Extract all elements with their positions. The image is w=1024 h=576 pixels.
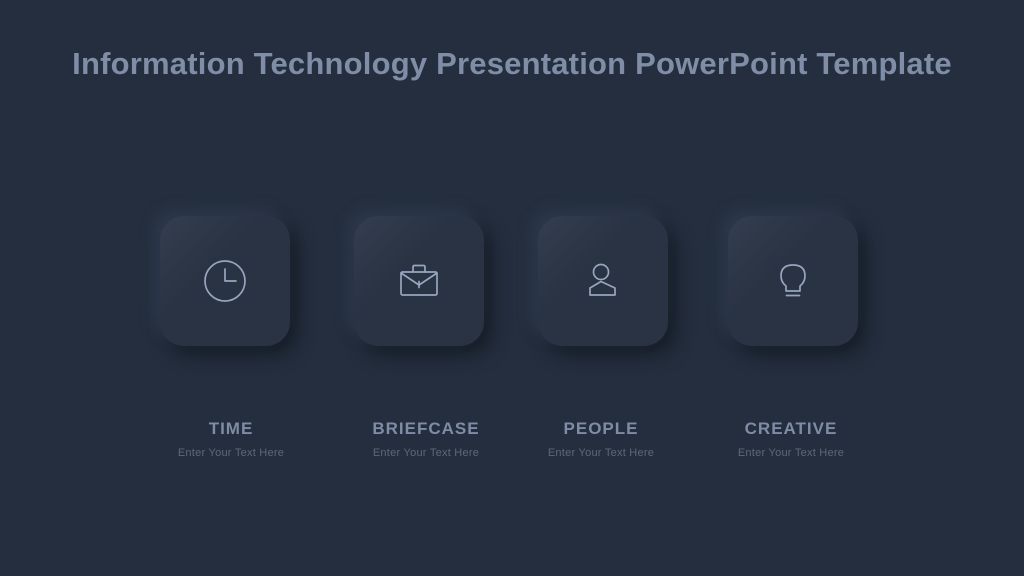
icon-card-time[interactable] [160,216,290,346]
card-sublabel-creative: Enter Your Text Here [691,446,891,460]
person-icon [577,255,629,307]
label-block-people: PEOPLE Enter Your Text Here [501,418,701,460]
label-block-briefcase: BRIEFCASE Enter Your Text Here [326,418,526,460]
clock-icon [199,255,251,307]
card-sublabel-time: Enter Your Text Here [131,446,331,460]
card-label-people: PEOPLE [501,418,701,440]
icon-cards-row [0,216,1024,366]
icon-card-people[interactable] [538,216,668,346]
card-label-creative: CREATIVE [691,418,891,440]
briefcase-icon [393,255,445,307]
lightbulb-icon [767,255,819,307]
page-title: Information Technology Presentation Powe… [0,46,1024,82]
card-labels-row: TIME Enter Your Text Here BRIEFCASE Ente… [0,418,1024,478]
presentation-slide: Information Technology Presentation Powe… [0,0,1024,576]
label-block-time: TIME Enter Your Text Here [131,418,331,460]
card-sublabel-briefcase: Enter Your Text Here [326,446,526,460]
card-label-time: TIME [131,418,331,440]
card-label-briefcase: BRIEFCASE [326,418,526,440]
icon-card-creative[interactable] [728,216,858,346]
label-block-creative: CREATIVE Enter Your Text Here [691,418,891,460]
card-sublabel-people: Enter Your Text Here [501,446,701,460]
icon-card-briefcase[interactable] [354,216,484,346]
